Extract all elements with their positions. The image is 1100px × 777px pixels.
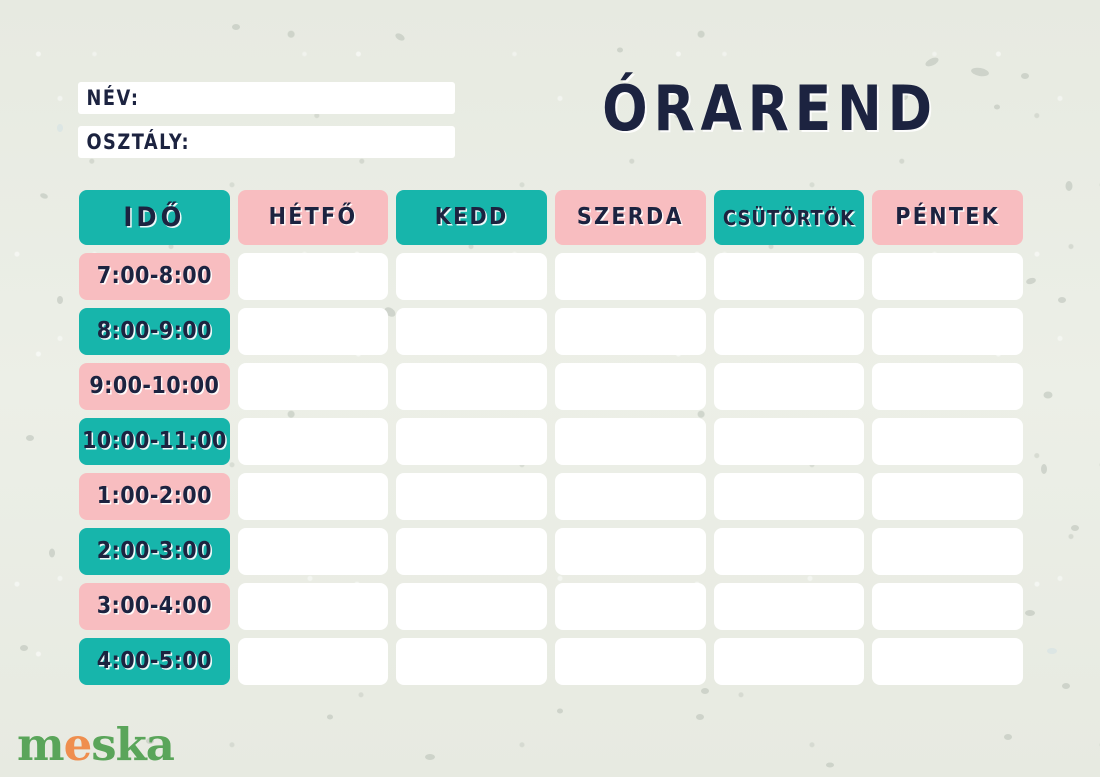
schedule-cell-r7-c3[interactable] xyxy=(555,583,706,630)
schedule-cell-r3-c2[interactable] xyxy=(396,363,547,410)
schedule-cell-r5-c4[interactable] xyxy=(714,473,865,520)
schedule-cell-r3-c3[interactable] xyxy=(555,363,706,410)
time-label-row-2: 8:00-9:00 xyxy=(79,308,230,355)
schedule-cell-r2-c4[interactable] xyxy=(714,308,865,355)
schedule-cell-r2-c5[interactable] xyxy=(872,308,1023,355)
time-label-row-5: 1:00-2:00 xyxy=(79,473,230,520)
table-header-day-2: KEDD xyxy=(396,190,547,245)
schedule-cell-r5-c3[interactable] xyxy=(555,473,706,520)
schedule-cell-r7-c5[interactable] xyxy=(872,583,1023,630)
schedule-cell-r5-c5[interactable] xyxy=(872,473,1023,520)
schedule-cell-r6-c4[interactable] xyxy=(714,528,865,575)
schedule-cell-r2-c3[interactable] xyxy=(555,308,706,355)
schedule-cell-r2-c1[interactable] xyxy=(238,308,389,355)
time-label-row-3: 9:00-10:00 xyxy=(79,363,230,410)
timetable-page: NÉV: OSZTÁLY: ÓRAREND IDŐHÉTFŐKEDDSZERDA… xyxy=(0,0,1100,777)
schedule-cell-r8-c2[interactable] xyxy=(396,638,547,685)
class-field[interactable]: OSZTÁLY: xyxy=(78,126,455,158)
name-field[interactable]: NÉV: xyxy=(78,82,455,114)
schedule-cell-r5-c1[interactable] xyxy=(238,473,389,520)
logo-part-1: m xyxy=(17,718,64,771)
schedule-cell-r8-c4[interactable] xyxy=(714,638,865,685)
schedule-cell-r8-c5[interactable] xyxy=(872,638,1023,685)
class-label: OSZTÁLY: xyxy=(78,132,190,153)
table-header-day-3: SZERDA xyxy=(555,190,706,245)
schedule-cell-r1-c2[interactable] xyxy=(396,253,547,300)
schedule-cell-r1-c3[interactable] xyxy=(555,253,706,300)
name-label: NÉV: xyxy=(78,88,139,109)
schedule-cell-r1-c5[interactable] xyxy=(872,253,1023,300)
schedule-cell-r7-c1[interactable] xyxy=(238,583,389,630)
schedule-cell-r8-c1[interactable] xyxy=(238,638,389,685)
schedule-cell-r4-c3[interactable] xyxy=(555,418,706,465)
schedule-cell-r3-c1[interactable] xyxy=(238,363,389,410)
form-header: NÉV: OSZTÁLY: ÓRAREND xyxy=(78,82,1022,164)
table-header-day-1: HÉTFŐ xyxy=(238,190,389,245)
time-label-row-8: 4:00-5:00 xyxy=(79,638,230,685)
schedule-cell-r6-c5[interactable] xyxy=(872,528,1023,575)
meska-logo[interactable]: meska xyxy=(17,722,174,767)
schedule-cell-r6-c1[interactable] xyxy=(238,528,389,575)
time-label-row-1: 7:00-8:00 xyxy=(79,253,230,300)
schedule-cell-r5-c2[interactable] xyxy=(396,473,547,520)
table-header-day-4: CSÜTÖRTÖK xyxy=(714,190,865,245)
schedule-cell-r6-c2[interactable] xyxy=(396,528,547,575)
timetable-grid: IDŐHÉTFŐKEDDSZERDACSÜTÖRTÖKPÉNTEK7:00-8:… xyxy=(79,190,1023,685)
table-header-day-5: PÉNTEK xyxy=(872,190,1023,245)
schedule-cell-r3-c5[interactable] xyxy=(872,363,1023,410)
logo-part-3: ska xyxy=(91,718,174,771)
schedule-cell-r1-c1[interactable] xyxy=(238,253,389,300)
schedule-cell-r8-c3[interactable] xyxy=(555,638,706,685)
schedule-cell-r4-c1[interactable] xyxy=(238,418,389,465)
time-label-row-7: 3:00-4:00 xyxy=(79,583,230,630)
schedule-cell-r7-c2[interactable] xyxy=(396,583,547,630)
schedule-cell-r2-c2[interactable] xyxy=(396,308,547,355)
schedule-cell-r1-c4[interactable] xyxy=(714,253,865,300)
page-title: ÓRAREND xyxy=(528,76,1012,141)
schedule-cell-r4-c4[interactable] xyxy=(714,418,865,465)
schedule-cell-r4-c2[interactable] xyxy=(396,418,547,465)
time-label-row-6: 2:00-3:00 xyxy=(79,528,230,575)
schedule-cell-r6-c3[interactable] xyxy=(555,528,706,575)
schedule-cell-r4-c5[interactable] xyxy=(872,418,1023,465)
schedule-cell-r7-c4[interactable] xyxy=(714,583,865,630)
table-header-time: IDŐ xyxy=(79,190,230,245)
time-label-row-4: 10:00-11:00 xyxy=(79,418,230,465)
schedule-cell-r3-c4[interactable] xyxy=(714,363,865,410)
logo-letter-e: e xyxy=(64,718,92,771)
